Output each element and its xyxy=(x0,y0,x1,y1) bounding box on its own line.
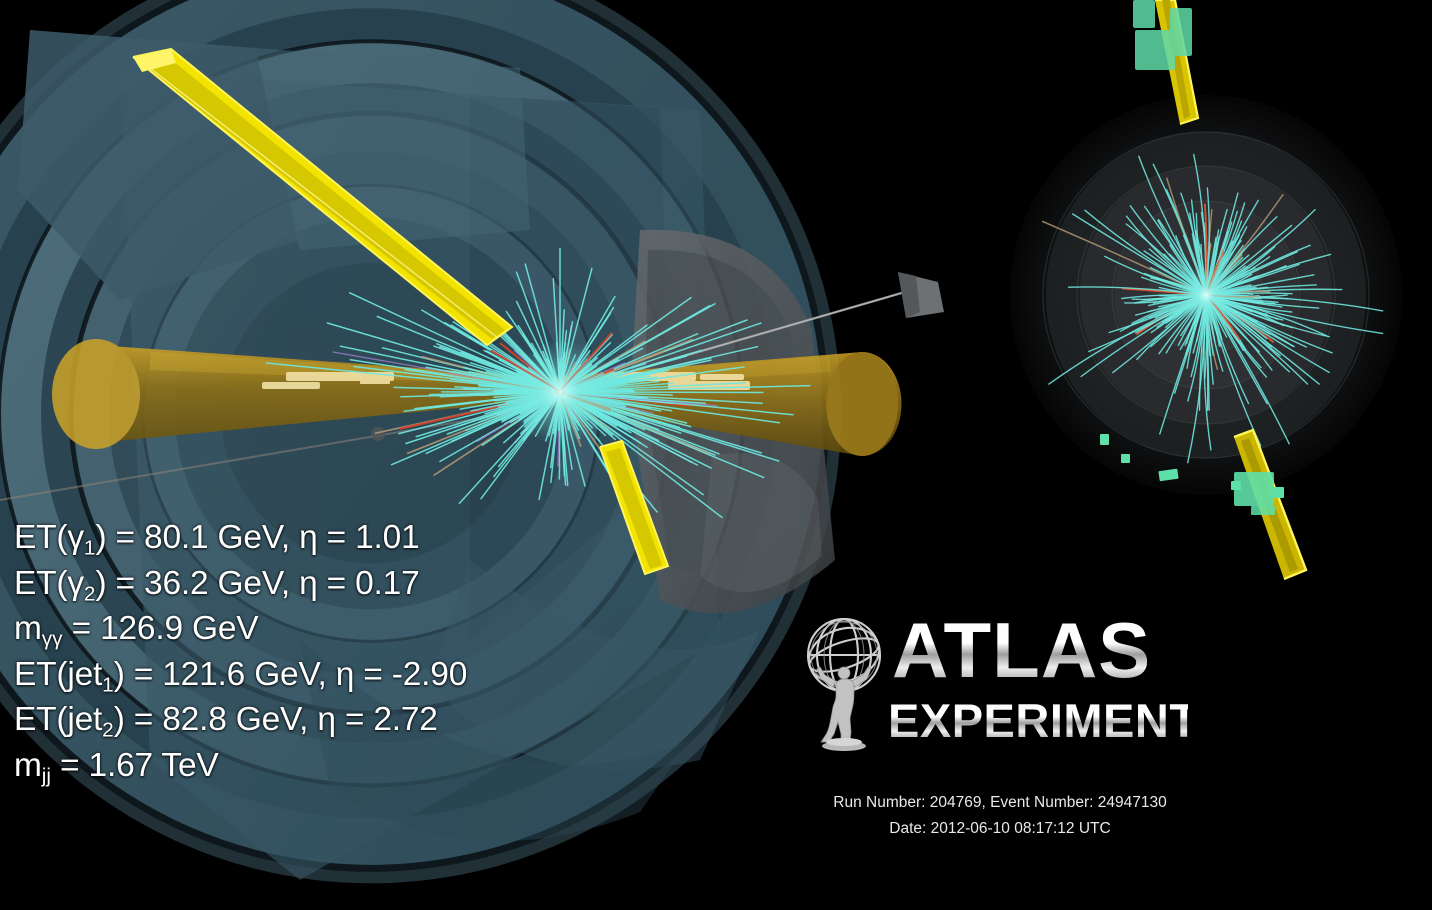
atlas-branding: ATLAS EXPERIMENT xyxy=(795,605,1195,765)
transverse-view xyxy=(0,0,1432,910)
wordmark-atlas: ATLAS xyxy=(892,606,1151,694)
event-caption: Run Number: 204769, Event Number: 249471… xyxy=(700,790,1300,842)
caption-run-event: Run Number: 204769, Event Number: 249471… xyxy=(700,790,1300,816)
atlas-globe-icon xyxy=(795,607,893,755)
caption-date: Date: 2012-06-10 08:17:12 UTC xyxy=(700,816,1300,842)
atlas-event-display: ET(γ1) = 80.1 GeV, η = 1.01 ET(γ2) = 36.… xyxy=(0,0,1432,910)
atlas-wordmark: ATLAS EXPERIMENT xyxy=(888,605,1188,755)
wordmark-experiment: EXPERIMENT xyxy=(888,694,1188,747)
